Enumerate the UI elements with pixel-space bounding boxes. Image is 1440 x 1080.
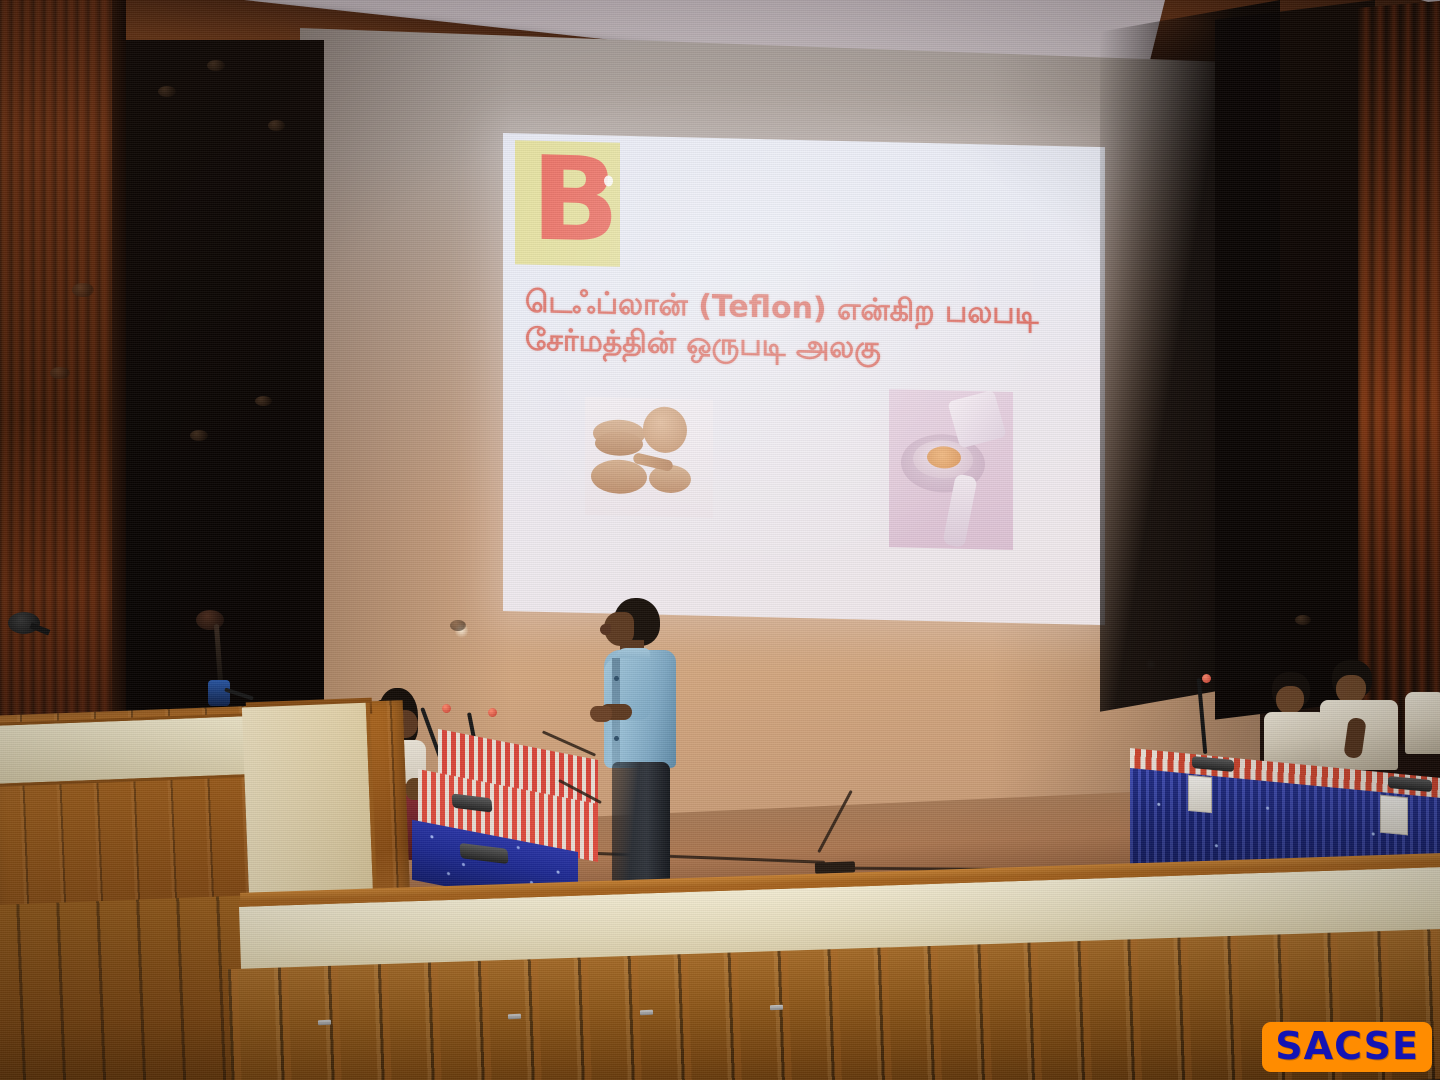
stage-microphone-base — [208, 680, 230, 706]
slat-clip — [318, 1020, 331, 1025]
table-name-card — [1188, 775, 1212, 813]
standing-presenter — [592, 598, 696, 896]
right-dark-shadow — [1100, 0, 1280, 712]
slide-title: டெஃப்லான் (Teflon) என்கிற பலபடி சேர்மத்த… — [525, 284, 1097, 373]
photograph-canvas: B டெஃப்லான் (Teflon) என்கிற பலபடி சேர்மத… — [0, 0, 1440, 1080]
table-name-card — [1380, 795, 1408, 836]
slat-clip — [508, 1014, 521, 1019]
wall-stud — [50, 367, 70, 379]
slide-photo-pan-with-egg — [889, 389, 1013, 550]
wall-stud — [450, 620, 466, 631]
wall-stud — [1295, 615, 1311, 625]
stage-front-inset-panel-upper — [0, 713, 253, 787]
slat-clip — [770, 1005, 783, 1010]
slide-photo-cookware-stack — [585, 397, 713, 518]
panelist-shirt — [1405, 692, 1440, 754]
wall-stud — [268, 120, 285, 131]
presenter-hand — [590, 706, 612, 722]
presenter-trousers-shading — [612, 762, 670, 886]
projected-slide: B டெஃப்லான் (Teflon) என்கிற பலபடி சேர்மத… — [503, 133, 1105, 625]
right-table-mic-head — [1202, 674, 1211, 683]
left-wood-paneling — [0, 0, 120, 760]
left-dark-backdrop — [124, 40, 324, 730]
slide-letter-badge: B — [531, 144, 621, 266]
sacse-watermark: SACSE — [1262, 1022, 1432, 1072]
wall-stud — [158, 86, 176, 97]
wall-stud — [207, 60, 225, 71]
shirt-button — [614, 736, 619, 741]
wall-stud — [190, 430, 208, 441]
panelist-face — [1276, 686, 1304, 714]
right-wood-paneling — [1358, 0, 1440, 748]
left-table-mic-head-2 — [488, 708, 497, 717]
left-wood-edge — [112, 0, 126, 760]
projector-hotspot-dot — [604, 175, 613, 186]
left-table-mic-head-1 — [442, 704, 451, 713]
wall-stud — [72, 283, 94, 297]
slat-clip — [640, 1010, 653, 1015]
wall-stud — [255, 396, 272, 406]
left-panel-table — [408, 760, 598, 890]
presenter-profile-nose — [600, 624, 611, 635]
stage-microphone-head — [196, 610, 224, 630]
shirt-button — [614, 676, 619, 681]
